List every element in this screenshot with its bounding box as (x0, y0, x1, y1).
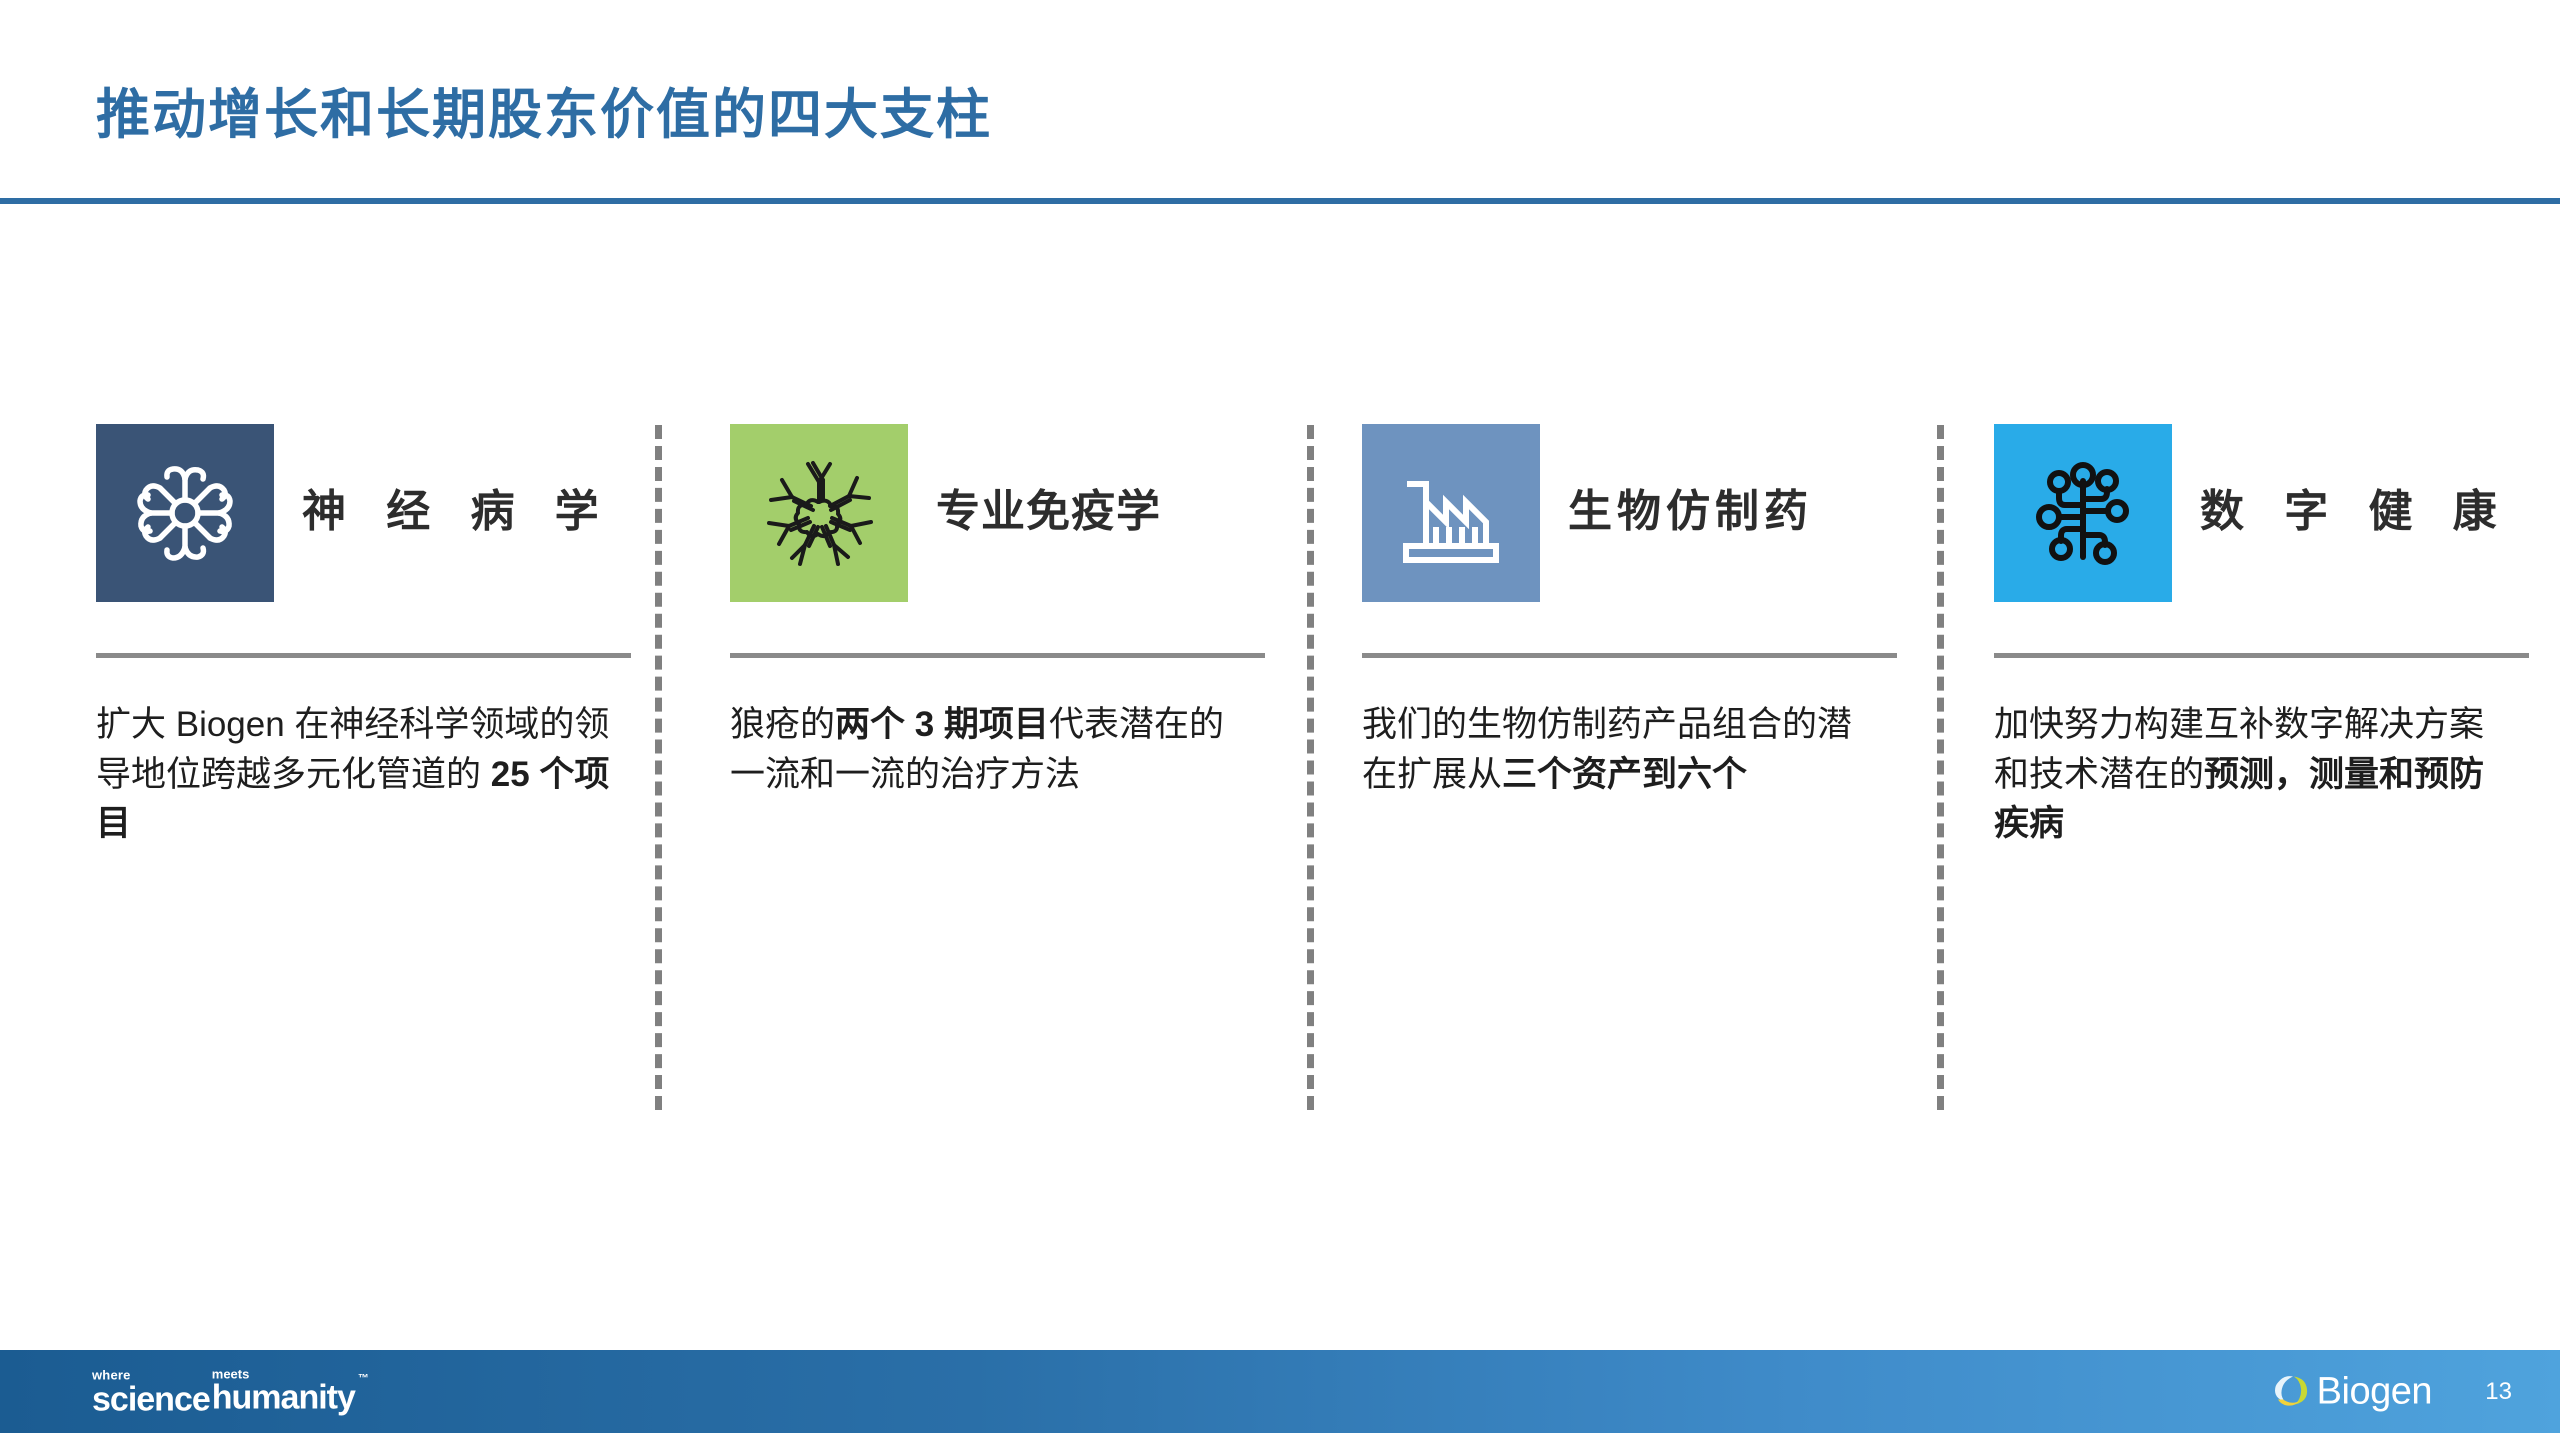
pillar-label: 专业免疫学 (936, 489, 1161, 535)
pillar-header: 生物仿制药 (1362, 420, 1922, 605)
footer-bar: where science meets humanity ™ Bi (0, 1350, 2560, 1433)
pillar-rule (96, 653, 631, 658)
tagline-left-stack: where science (92, 1368, 210, 1416)
pillar-body-text: 扩大 Biogen 在神经科学领域的领导地位跨越多元化管道的 25 个项目 (96, 700, 616, 849)
pillar-header: 神 经 病 学 (96, 420, 656, 605)
pillar-header: 专业免疫学 (730, 420, 1290, 605)
pillar-header: 数 字 健 康 (1994, 420, 2554, 605)
pillar-icon-box (1994, 424, 2172, 602)
biogen-wordmark: Biogen (2317, 1370, 2432, 1413)
pillar-label: 数 字 健 康 (2200, 489, 2511, 535)
pillar-body-emphasis: 三个资产到六个 (1502, 755, 1747, 794)
tagline-humanity: humanity (212, 1380, 355, 1414)
pillar-digital-health: 数 字 健 康 加快努力构建互补数字解决方案和技术潜在的预测，测量和预防疾病 (1994, 420, 2554, 1120)
biogen-logo: Biogen (2271, 1369, 2432, 1414)
page-number: 13 (2485, 1378, 2512, 1406)
pillar-rule (730, 653, 1265, 658)
pillar-neurology: 神 经 病 学 扩大 Biogen 在神经科学领域的领导地位跨越多元化管道的 2… (96, 420, 656, 1120)
neuron-icon (125, 453, 245, 573)
factory-icon (1388, 450, 1514, 576)
pillar-body-lead: 狼疮的 (730, 705, 835, 744)
pillar-rule (1362, 653, 1897, 658)
pillar-label: 神 经 病 学 (302, 489, 613, 535)
digital-network-icon (2021, 451, 2145, 575)
tagline-science: science (92, 1382, 210, 1416)
footer-inner: where science meets humanity ™ Bi (0, 1350, 2560, 1433)
pillar-icon-box (730, 424, 908, 602)
tagline-right-stack: meets humanity (212, 1367, 355, 1416)
pillar-icon-box (96, 424, 274, 602)
slide: 推动增长和长期股东价值的四大支柱 (0, 0, 2560, 1433)
pillar-body-emphasis: 两个 3 期项目 (835, 705, 1049, 744)
page-title: 推动增长和长期股东价值的四大支柱 (96, 86, 992, 145)
pillar-label: 生物仿制药 (1568, 489, 1813, 535)
pillars-row: 神 经 病 学 扩大 Biogen 在神经科学领域的领导地位跨越多元化管道的 2… (0, 420, 2560, 1120)
pillar-body-text: 加快努力构建互补数字解决方案和技术潜在的预测，测量和预防疾病 (1994, 700, 2514, 849)
tagline-lockup: where science meets humanity ™ (92, 1367, 369, 1416)
antibody-icon (756, 450, 882, 576)
tagline-trademark: ™ (358, 1373, 369, 1384)
pillar-rule (1994, 653, 2529, 658)
pillar-immunology: 专业免疫学 狼疮的两个 3 期项目代表潜在的一流和一流的治疗方法 (730, 420, 1290, 1120)
biogen-swirl-icon (2271, 1369, 2311, 1414)
title-divider-rule (0, 198, 2560, 204)
pillar-biosimilars: 生物仿制药 我们的生物仿制药产品组合的潜在扩展从三个资产到六个 (1362, 420, 1922, 1120)
pillar-icon-box (1362, 424, 1540, 602)
pillar-body-text: 狼疮的两个 3 期项目代表潜在的一流和一流的治疗方法 (730, 700, 1250, 799)
pillar-body-text: 我们的生物仿制药产品组合的潜在扩展从三个资产到六个 (1362, 700, 1882, 799)
